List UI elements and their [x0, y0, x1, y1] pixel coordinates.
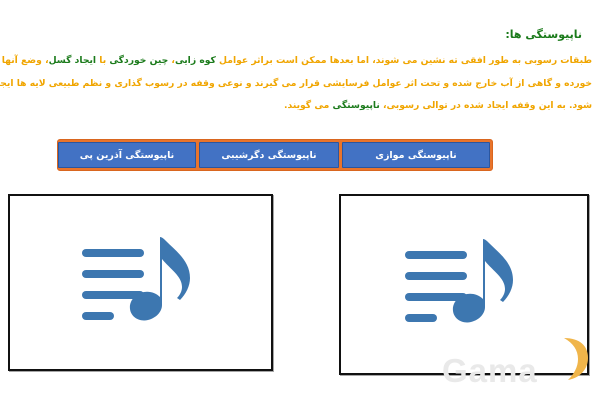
unconformity-angular-button[interactable]: ناپیوستگی دگرشیبی — [199, 142, 339, 168]
paragraph-text: خورده و گاهی از آب خارج شده و تحت اثر عو… — [0, 78, 592, 89]
highlighted-term: کوه زایی — [175, 55, 216, 66]
slide-canvas: ناپیوستگی ها: طبقات رسوبی به طور افقی ته… — [0, 0, 600, 400]
body-paragraph: طبقات رسوبی به طور افقی ته نشین می شوند،… — [8, 50, 592, 118]
audio-note-icon — [80, 231, 202, 335]
highlighted-term: چین خوردگی — [109, 55, 168, 66]
unconformity-parallel-button[interactable]: ناپیوستگی موازی — [342, 142, 490, 168]
paragraph-text: می گویند. — [284, 100, 332, 111]
paragraph-line: طبقات رسوبی به طور افقی ته نشین می شوند،… — [8, 50, 592, 73]
highlighted-term: ایجاد گسل — [49, 55, 96, 66]
paragraph-text: ، وضع آنها به هم — [0, 55, 49, 66]
paragraph-line: شود. به این وقفه ایجاد شده در توالی رسوب… — [8, 95, 592, 118]
paragraph-text: با — [96, 55, 109, 66]
media-placeholder-right[interactable] — [339, 194, 589, 375]
paragraph-text: شود. به این وقفه ایجاد شده در توالی رسوب… — [380, 100, 592, 111]
unconformity-nonconformity-button[interactable]: ناپیوستگی آذرین پی — [58, 142, 196, 168]
paragraph-line: خورده و گاهی از آب خارج شده و تحت اثر عو… — [8, 73, 592, 96]
unconformity-types-toolbar: ناپیوستگی موازی ناپیوستگی دگرشیبی ناپیوس… — [57, 139, 493, 171]
highlighted-term: ناپیوستگی — [333, 100, 380, 111]
paragraph-text: ، — [168, 55, 175, 66]
audio-note-icon — [403, 233, 525, 337]
paragraph-text: طبقات رسوبی به طور افقی ته نشین می شوند،… — [216, 55, 592, 66]
media-placeholder-left[interactable] — [8, 194, 273, 371]
page-title: ناپیوستگی ها: — [18, 28, 582, 41]
